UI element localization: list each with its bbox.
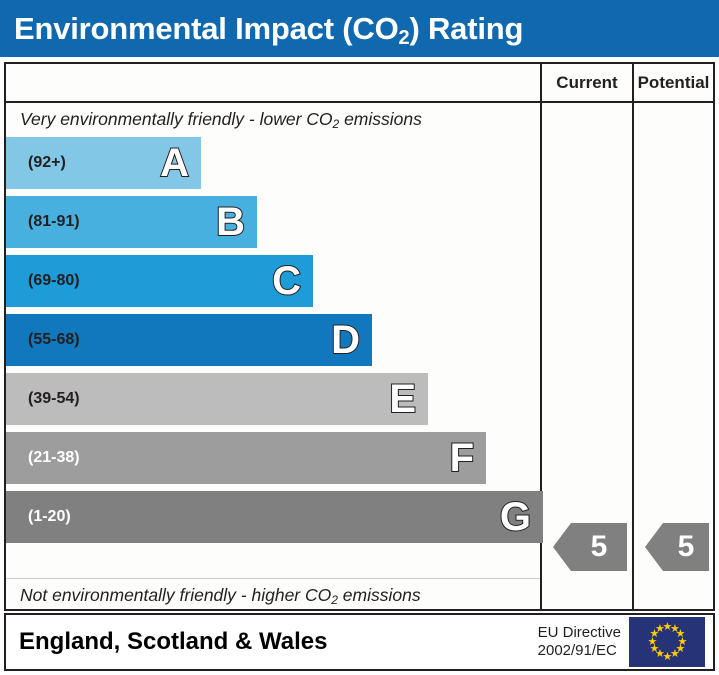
band-letter-g: G — [500, 497, 531, 537]
potential-rating-arrow: 5 — [645, 523, 709, 571]
band-range-a: (92+) — [28, 154, 66, 172]
caption-top-text: Very environmentally friendly - lower CO — [20, 109, 333, 129]
footer-directive: EU Directive 2002/91/EC — [538, 624, 621, 660]
rating-band-a: (92+)A — [6, 137, 201, 189]
footer-region-label: England, Scotland & Wales — [19, 628, 327, 656]
band-letter-d: D — [331, 320, 360, 360]
caption-bottom-subscript: 2 — [331, 593, 338, 607]
band-range-b: (81-91) — [28, 213, 80, 231]
current-rating-value: 5 — [571, 530, 627, 564]
eu-flag-icon: ★★★★★★★★★★★★ — [629, 617, 705, 667]
caption-not-friendly: Not environmentally friendly - higher CO… — [6, 578, 540, 610]
band-letter-f: F — [450, 438, 474, 478]
caption-bottom-text: Not environmentally friendly - higher CO — [20, 585, 331, 605]
band-letter-b: B — [216, 202, 245, 242]
page-title-main: Environmental Impact (CO — [14, 11, 399, 46]
band-letter-a: A — [160, 143, 189, 183]
column-divider-2 — [632, 64, 634, 609]
band-letter-e: E — [389, 379, 416, 419]
band-range-e: (39-54) — [28, 390, 80, 408]
rating-band-e: (39-54)E — [6, 373, 428, 425]
current-rating-arrow: 5 — [553, 523, 627, 571]
rating-bands: (92+)A(81-91)B(69-80)C(55-68)D(39-54)E(2… — [6, 137, 540, 578]
rating-band-d: (55-68)D — [6, 314, 372, 366]
column-header-potential: Potential — [634, 64, 713, 101]
page-title-subscript: 2 — [399, 27, 410, 49]
caption-top-subscript: 2 — [333, 117, 340, 131]
caption-bottom-suffix: emissions — [338, 585, 421, 605]
footer-bar: England, Scotland & Wales EU Directive 2… — [4, 613, 715, 671]
rating-band-b: (81-91)B — [6, 196, 257, 248]
rating-band-g: (1-20)G — [6, 491, 543, 543]
band-range-d: (55-68) — [28, 331, 80, 349]
rating-band-f: (21-38)F — [6, 432, 486, 484]
band-range-c: (69-80) — [28, 272, 80, 290]
caption-top-suffix: emissions — [339, 109, 422, 129]
footer-directive-line1: EU Directive — [538, 624, 621, 642]
column-header-current: Current — [542, 64, 632, 101]
band-range-g: (1-20) — [28, 508, 71, 526]
epc-environmental-impact-chart: Environmental Impact (CO2) Rating Curren… — [0, 0, 719, 675]
chart-frame: Current Potential Very environmentally f… — [4, 62, 715, 611]
band-letter-c: C — [272, 261, 301, 301]
potential-rating-value: 5 — [663, 530, 709, 564]
chart-title-bar: Environmental Impact (CO2) Rating — [0, 0, 719, 57]
rating-band-c: (69-80)C — [6, 255, 313, 307]
page-title: Environmental Impact (CO2) Rating — [14, 11, 523, 47]
caption-very-friendly: Very environmentally friendly - lower CO… — [6, 103, 540, 135]
footer-directive-line2: 2002/91/EC — [538, 642, 621, 660]
band-range-f: (21-38) — [28, 449, 80, 467]
page-title-suffix: ) Rating — [409, 11, 523, 46]
eu-star-icon: ★ — [655, 625, 664, 634]
